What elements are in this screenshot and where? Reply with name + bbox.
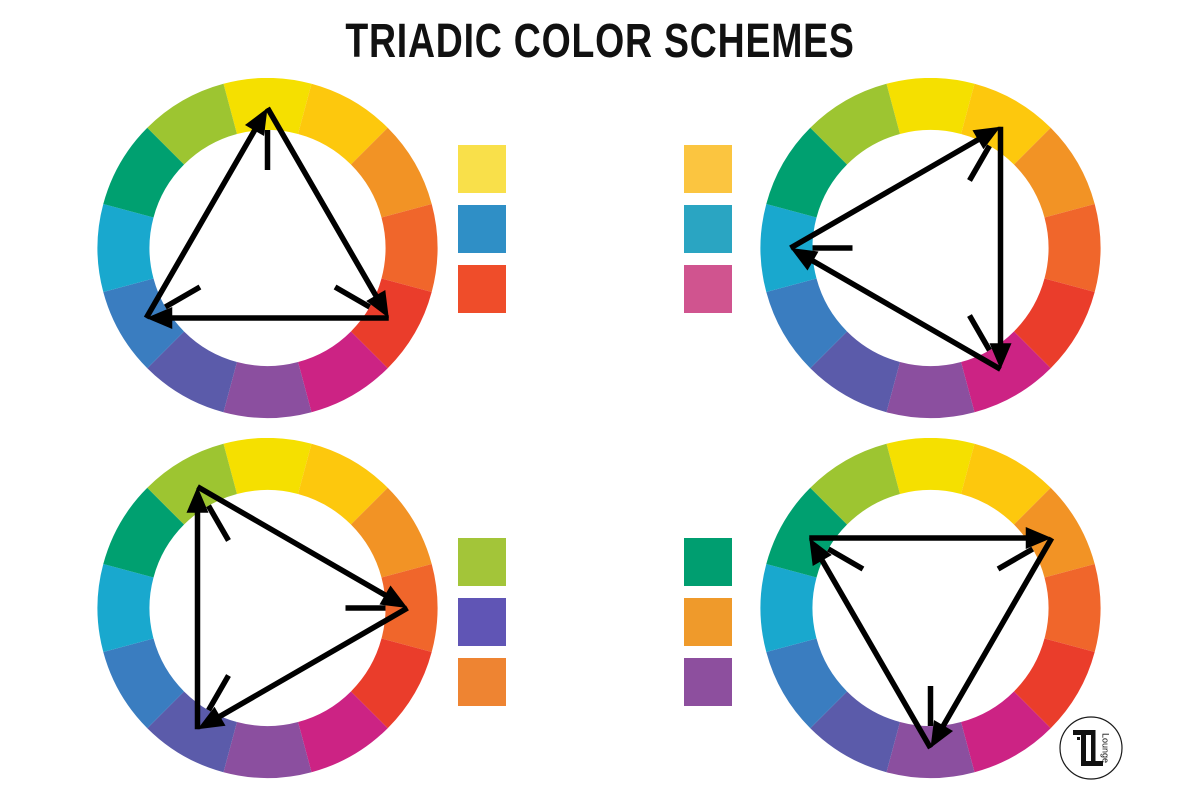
color-wheel-ring [761,78,1101,418]
wheel-segment-purple[interactable] [887,722,975,778]
vertex-tick [209,676,229,711]
wheel-segment-cyan[interactable] [98,564,154,652]
color-wheel-ring [761,438,1101,778]
color-swatch-pink-magenta[interactable] [684,265,732,313]
page-title: TRIADIC COLOR SCHEMES [132,14,1068,69]
vertex-tick [335,287,370,307]
brand-logo[interactable]: Lounge [1055,712,1127,784]
swatch-group-2 [684,145,732,325]
vertex-tick [970,146,990,181]
wheel-segment-cyan[interactable] [98,204,154,292]
vertex-tick [209,506,229,541]
logo-monogram-mark [1073,730,1103,766]
vertex-tick [828,549,863,569]
color-swatch-green[interactable] [684,538,732,586]
color-swatch-yellow[interactable] [458,145,506,193]
color-wheel-ring [98,78,438,418]
color-swatch-yellow-green[interactable] [458,538,506,586]
color-wheel-4[interactable] [758,438,1103,783]
wheel-segment-red-orange[interactable] [381,564,437,652]
wheel-segment-yellow[interactable] [887,438,975,494]
color-swatch-cyan[interactable] [684,205,732,253]
wheel-segment-yellow[interactable] [224,78,312,134]
vertex-tick [970,316,990,351]
color-swatch-orange[interactable] [458,658,506,706]
wheel-segment-cyan[interactable] [761,564,817,652]
wheel-segment-red-orange[interactable] [381,204,437,292]
color-swatch-orange[interactable] [684,598,732,646]
vertex-tick [998,549,1033,569]
color-swatch-blue-violet[interactable] [458,598,506,646]
vertex-tick [165,287,200,307]
scheme-panel-top-left [95,78,440,418]
scheme-panel-bottom-right [758,438,1103,778]
wheel-segment-red-orange[interactable] [1044,204,1100,292]
swatch-group-3 [458,538,506,718]
wheel-segment-yellow[interactable] [224,438,312,494]
wheel-segment-yellow[interactable] [887,78,975,134]
scheme-panel-bottom-left [95,438,440,778]
wheel-segment-cyan[interactable] [761,204,817,292]
wheel-segment-purple[interactable] [224,722,312,778]
color-swatch-blue[interactable] [458,205,506,253]
poster-canvas: TRIADIC COLOR SCHEMES Lounge [0,0,1200,800]
wheel-segment-purple[interactable] [887,362,975,418]
color-swatch-red-orange[interactable] [458,265,506,313]
wheel-segment-red-orange[interactable] [1044,564,1100,652]
scheme-panel-top-right [758,78,1103,418]
color-wheel-1[interactable] [95,78,440,423]
color-wheel-2[interactable] [758,78,1103,423]
swatch-group-4 [684,538,732,718]
color-wheel-ring [98,438,438,778]
color-swatch-purple[interactable] [684,658,732,706]
swatch-group-1 [458,145,506,325]
wheel-segment-purple[interactable] [224,362,312,418]
color-wheel-3[interactable] [95,438,440,783]
color-swatch-yellow-orange[interactable] [684,145,732,193]
logo-wordmark: Lounge [1101,733,1111,763]
